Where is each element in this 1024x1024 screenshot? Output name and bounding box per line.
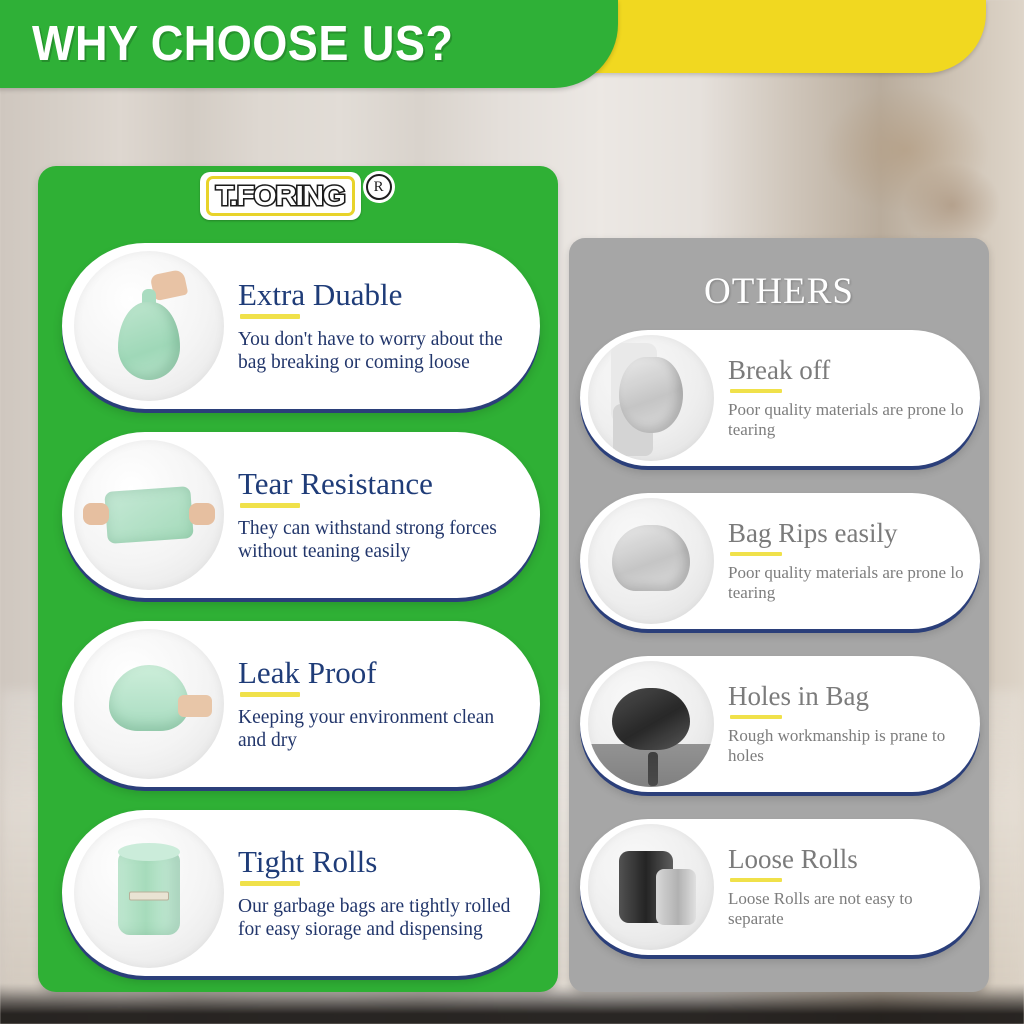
logo-plate: T.FORING — [200, 172, 361, 220]
logo-border: T.FORING — [206, 176, 355, 216]
feature-card-tear-resistance[interactable]: Tear Resistance They can withstand stron… — [62, 432, 540, 598]
card-text: Bag Rips easily Poor quality materials a… — [714, 519, 980, 602]
title-underline — [240, 692, 300, 697]
feature-card-leak-proof[interactable]: Leak Proof Keeping your environment clea… — [62, 621, 540, 787]
card-text: Tight Rolls Our garbage bags are tightly… — [224, 845, 540, 941]
registered-trademark-icon: R — [366, 174, 392, 200]
card-text: Extra Duable You don't have to worry abo… — [224, 278, 540, 374]
drawback-description: Poor quality materials are prone lo tear… — [728, 563, 964, 603]
hand-holding-green-bag-icon — [74, 251, 224, 401]
drawback-description: Poor quality materials are prone lo tear… — [728, 400, 964, 440]
feature-title: Extra Duable — [238, 278, 524, 311]
drawback-title: Holes in Bag — [728, 682, 964, 711]
drawback-description: Loose Rolls are not easy to separate — [728, 889, 964, 929]
hands-stretching-bag-icon — [74, 440, 224, 590]
feature-description: They can withstand strong forces without… — [238, 517, 524, 563]
card-text: Holes in Bag Rough workmanship is prane … — [714, 682, 980, 765]
title-underline — [240, 314, 300, 319]
infographic-canvas: WHY CHOOSE US? T.FORING R OTHERS Extra D… — [0, 0, 1024, 1024]
feature-title: Tight Rolls — [238, 845, 524, 878]
drawback-card-holes-in-bag[interactable]: Holes in Bag Rough workmanship is prane … — [580, 656, 980, 792]
open-green-bag-icon — [74, 629, 224, 779]
feature-description: Our garbage bags are tightly rolled for … — [238, 895, 524, 941]
header-banner-green: WHY CHOOSE US? — [0, 0, 618, 88]
card-text: Leak Proof Keeping your environment clea… — [224, 656, 540, 752]
card-text: Tear Resistance They can withstand stron… — [224, 467, 540, 563]
drawback-title: Break off — [728, 356, 964, 385]
page-title: WHY CHOOSE US? — [32, 16, 453, 72]
drawback-card-bag-rips-easily[interactable]: Bag Rips easily Poor quality materials a… — [580, 493, 980, 629]
loose-rolls-icon — [588, 824, 714, 950]
title-underline — [240, 503, 300, 508]
others-heading: OTHERS — [569, 270, 989, 313]
green-bag-roll-icon — [74, 818, 224, 968]
drawback-card-break-off[interactable]: Break off Poor quality materials are pro… — [580, 330, 980, 466]
drawback-description: Rough workmanship is prane to holes — [728, 726, 964, 766]
title-underline — [240, 881, 300, 886]
black-bag-leaking-icon — [588, 661, 714, 787]
feature-title: Tear Resistance — [238, 467, 524, 500]
feature-card-tight-rolls[interactable]: Tight Rolls Our garbage bags are tightly… — [62, 810, 540, 976]
brand-logo: T.FORING R — [200, 172, 392, 220]
feature-description: Keeping your environment clean and dry — [238, 706, 524, 752]
card-text: Break off Poor quality materials are pro… — [714, 356, 980, 439]
title-underline — [730, 878, 782, 882]
feature-card-extra-duable[interactable]: Extra Duable You don't have to worry abo… — [62, 243, 540, 409]
title-underline — [730, 389, 782, 393]
title-underline — [730, 715, 782, 719]
card-text: Loose Rolls Loose Rolls are not easy to … — [714, 845, 980, 928]
title-underline — [730, 552, 782, 556]
ripped-white-bag-icon — [588, 498, 714, 624]
drawback-title: Bag Rips easily — [728, 519, 964, 548]
feature-description: You don't have to worry about the bag br… — [238, 328, 524, 374]
feature-title: Leak Proof — [238, 656, 524, 689]
drawback-card-loose-rolls[interactable]: Loose Rolls Loose Rolls are not easy to … — [580, 819, 980, 955]
person-carrying-torn-bag-icon — [588, 335, 714, 461]
logo-wordmark: T.FORING — [216, 181, 345, 210]
drawback-title: Loose Rolls — [728, 845, 964, 874]
